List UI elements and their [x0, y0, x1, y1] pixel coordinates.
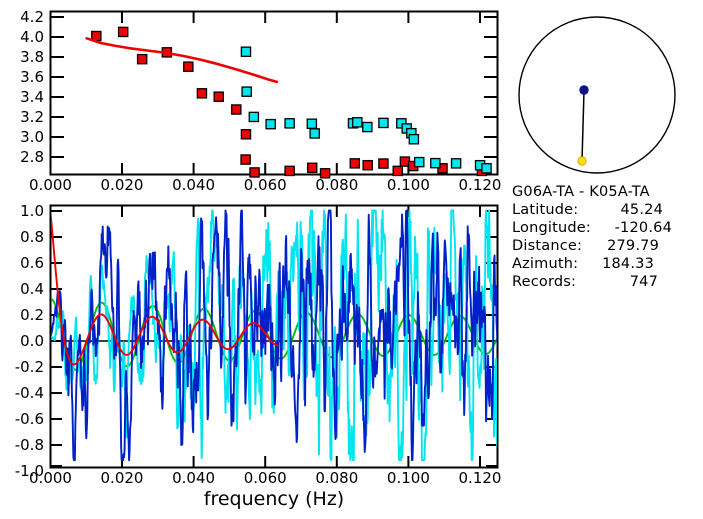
- info-value-records: 747: [630, 274, 658, 290]
- data-point-marker: [119, 27, 128, 36]
- data-point-marker: [308, 163, 317, 172]
- data-point-marker: [214, 92, 223, 101]
- station-b-dot: [578, 157, 586, 165]
- data-point-marker: [363, 122, 372, 131]
- ytick-label: -0.4: [15, 384, 44, 402]
- data-point-marker: [363, 161, 372, 170]
- data-point-marker: [138, 55, 147, 64]
- ytick-label: 4.2: [20, 8, 44, 26]
- ytick-label: 1.0: [20, 202, 44, 220]
- xtick-label: 0.080: [315, 176, 358, 194]
- info-label-azimuth: Azimuth:: [512, 256, 578, 272]
- data-point-marker: [184, 62, 193, 71]
- info-label-distance: Distance:: [512, 238, 582, 254]
- data-point-marker: [310, 129, 319, 138]
- info-value-azimuth: 184.33: [602, 256, 654, 272]
- ytick-label: 3.4: [20, 88, 44, 106]
- data-point-marker: [241, 155, 250, 164]
- xtick-label: 0.080: [315, 469, 358, 487]
- ytick-label: 0.6: [20, 254, 44, 272]
- data-point-marker: [242, 87, 251, 96]
- ytick-label: -0.8: [15, 436, 44, 454]
- info-label-records: Records:: [512, 274, 576, 290]
- ytick-label: 3.6: [20, 68, 44, 86]
- ytick-label: 0.8: [20, 228, 44, 246]
- xtick-label: 0.060: [244, 176, 287, 194]
- data-point-marker: [307, 119, 316, 128]
- data-point-marker: [482, 164, 491, 173]
- data-point-marker: [379, 159, 388, 168]
- data-point-marker: [249, 112, 258, 121]
- data-point-marker: [285, 119, 294, 128]
- xtick-label: 0.120: [459, 176, 502, 194]
- data-point-marker: [197, 89, 206, 98]
- ytick-label: 0.2: [20, 306, 44, 324]
- data-point-marker: [266, 120, 275, 129]
- ytick-label: 4.0: [20, 28, 44, 46]
- ytick-label: 0.4: [20, 280, 44, 298]
- data-point-marker: [285, 166, 294, 175]
- ytick-label: 3.8: [20, 48, 44, 66]
- data-point-marker: [350, 159, 359, 168]
- data-point-marker: [250, 168, 259, 177]
- xtick-label: 0.100: [387, 176, 430, 194]
- plot-page: 4.2 4.0 3.8 3.6 3.4 3.2 3.0 2.8: [0, 0, 703, 519]
- xtick-label: 0.020: [101, 176, 144, 194]
- xtick-label: 0.120: [459, 469, 502, 487]
- data-point-marker: [431, 159, 440, 168]
- info-value-distance: 279.79: [607, 238, 659, 254]
- data-point-marker: [393, 166, 402, 175]
- xtick-label: 0.040: [172, 469, 215, 487]
- info-label-latitude: Latitude:: [512, 202, 578, 218]
- data-point-marker: [241, 130, 250, 139]
- info-title: G06A-TA - K05A-TA: [512, 184, 650, 200]
- info-value-latitude: 45.24: [620, 202, 663, 218]
- xtick-label: 0.000: [29, 176, 72, 194]
- data-point-marker: [379, 118, 388, 127]
- station-a-dot: [580, 86, 588, 94]
- xtick-label: 0.100: [387, 469, 430, 487]
- ytick-label: -0.6: [15, 410, 44, 428]
- ytick-label: 3.0: [20, 128, 44, 146]
- xtick-label: 0.060: [244, 469, 287, 487]
- ytick-label: 3.2: [20, 108, 44, 126]
- ytick-label: -0.2: [15, 358, 44, 376]
- xtick-label: 0.000: [29, 469, 72, 487]
- data-point-marker: [241, 47, 250, 56]
- xtick-label: 0.040: [172, 176, 215, 194]
- info-value-longitude: -120.64: [615, 220, 672, 236]
- ytick-label: 0.0: [20, 332, 44, 350]
- data-point-marker: [452, 159, 461, 168]
- ytick-label: 2.8: [20, 148, 44, 166]
- data-point-marker: [320, 169, 329, 178]
- data-point-marker: [353, 118, 362, 127]
- data-point-marker: [415, 158, 424, 167]
- x-axis-title: frequency (Hz): [204, 488, 344, 510]
- data-point-marker: [409, 135, 418, 144]
- info-label-longitude: Longitude:: [512, 220, 591, 236]
- data-point-marker: [232, 105, 241, 114]
- xtick-label: 0.020: [101, 469, 144, 487]
- figure-canvas: 4.2 4.0 3.8 3.6 3.4 3.2 3.0 2.8: [0, 0, 703, 519]
